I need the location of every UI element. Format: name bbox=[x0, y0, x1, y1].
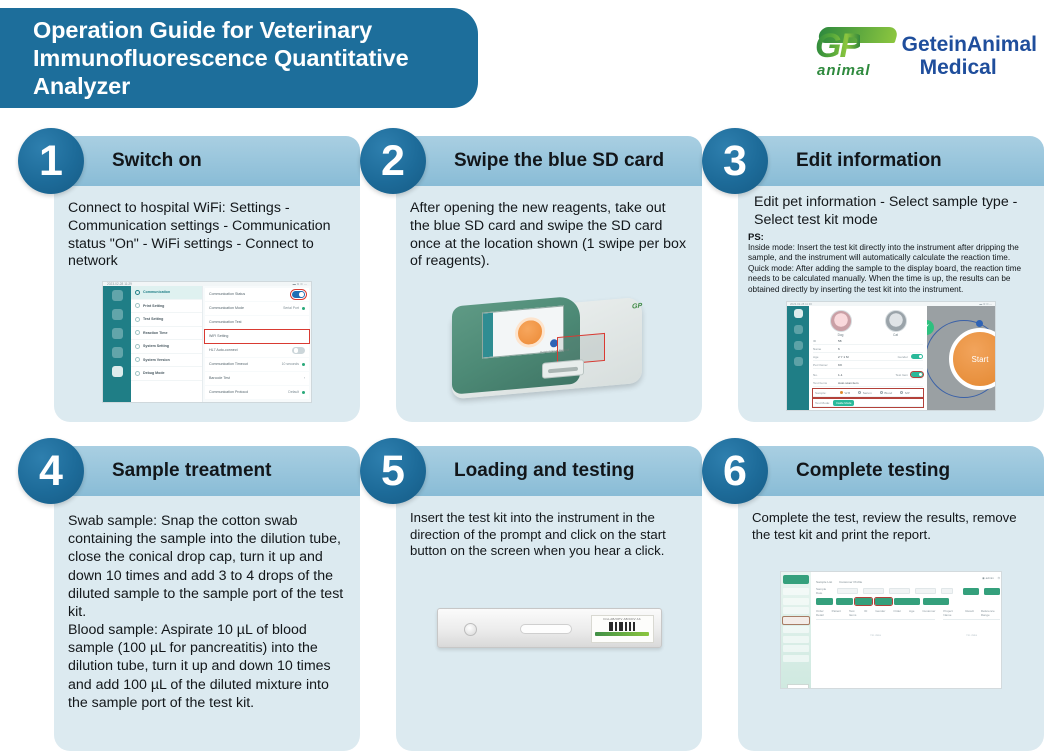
filter-customer[interactable] bbox=[915, 588, 936, 594]
field-label: Name bbox=[813, 347, 835, 351]
sample-type-row[interactable]: Sample: W.B Serum Blood S/P bbox=[813, 389, 923, 397]
sidebar-item-storage-center[interactable] bbox=[783, 655, 809, 662]
row-label: Communication Mode bbox=[209, 306, 244, 310]
status-dot-icon bbox=[302, 363, 305, 366]
col-project-name: Project Name bbox=[943, 609, 958, 617]
radio-icon bbox=[900, 391, 903, 394]
test-item-label: Test Item bbox=[895, 373, 908, 377]
rail-test-icon[interactable] bbox=[794, 309, 803, 318]
sidebar-item-customer[interactable] bbox=[783, 607, 809, 614]
settings-screen-body: Communication Print Setting Test Setting bbox=[103, 286, 311, 402]
pet-option-dog[interactable]: Dog bbox=[830, 310, 852, 337]
status-dot-icon bbox=[302, 391, 305, 394]
step-5-figure: ICH-AB/OPV AB/CDV Ab bbox=[410, 600, 688, 656]
sidebar-item-updated-jobs[interactable] bbox=[783, 645, 809, 652]
pet-info-screenshot: 2023-02-28 11:30 ▬ ≋ ⊙ ⋯ bbox=[786, 301, 996, 411]
step-2-number-badge: 2 bbox=[360, 128, 426, 194]
gp-logo-mark: GP animal bbox=[807, 29, 894, 85]
col-age: Age bbox=[909, 609, 914, 617]
test-item-toggle[interactable] bbox=[911, 372, 923, 378]
step-3-header: 3 Edit information bbox=[738, 136, 1044, 186]
col-gender: Gender bbox=[875, 609, 885, 617]
field-value[interactable]: 2 Y 1 M bbox=[838, 355, 895, 359]
brand-name-line2: Medical bbox=[902, 57, 1037, 80]
brand-name: GeteinAnimal Medical bbox=[902, 34, 1037, 79]
menu-bullet-icon bbox=[135, 290, 140, 295]
settings-left-rail[interactable] bbox=[103, 286, 131, 402]
step-5-text: Insert the test kit into the instrument … bbox=[410, 510, 688, 560]
table-header-row: Order Detail Patient Test Items ID Gende… bbox=[816, 609, 935, 620]
pet-option-label: Cat bbox=[893, 333, 898, 337]
step-card-4: 4 Sample treatment Swab sample: Snap the… bbox=[18, 446, 360, 751]
step-card-5: 5 Loading and testing Insert the test ki… bbox=[360, 446, 702, 751]
field-row-age-gender[interactable]: Age 2 Y 1 M Gender bbox=[813, 353, 923, 361]
step-5-title: Loading and testing bbox=[454, 460, 635, 482]
dashboard-main: ◉ admin ⏻ Sample List Customer Profile S… bbox=[811, 572, 1002, 688]
filter-date-to[interactable] bbox=[863, 588, 884, 594]
step-4-title: Sample treatment bbox=[112, 460, 271, 482]
dashboard-filter-bar[interactable]: Sample Date bbox=[816, 587, 1000, 595]
row-wifi-setting[interactable]: WiFi Setting bbox=[205, 330, 309, 343]
step-card-2: 2 Swipe the blue SD card After opening t… bbox=[360, 136, 702, 422]
gp-logo-letters: GP bbox=[815, 29, 860, 63]
sample-option-sp[interactable]: S/P bbox=[900, 391, 910, 395]
field-label: Pet Owner bbox=[813, 363, 835, 367]
step-5-header: 5 Loading and testing bbox=[396, 446, 702, 496]
pet-info-start-panel: ✓ Start bbox=[927, 306, 995, 410]
account-icon[interactable]: ◉ admin bbox=[982, 576, 994, 580]
action-print-button[interactable] bbox=[836, 598, 853, 605]
field-row-test-items[interactable]: Test Items Auto scan item bbox=[813, 379, 923, 387]
col-test-items: Test Items bbox=[849, 609, 856, 617]
step-4-text: Swab sample: Snap the cotton swab contai… bbox=[68, 512, 346, 712]
dashboard-reset-button[interactable] bbox=[984, 588, 1000, 595]
menu-bullet-icon bbox=[135, 317, 140, 322]
cat-avatar-icon bbox=[885, 310, 907, 332]
step-3-number-badge: 3 bbox=[702, 128, 768, 194]
test-mode-value[interactable]: Inside Mode bbox=[833, 400, 854, 406]
dashboard-brand-logo bbox=[783, 575, 809, 584]
settings-menu-item-print-setting[interactable]: Print Setting bbox=[131, 300, 202, 314]
communication-status-toggle[interactable] bbox=[292, 291, 305, 298]
col-id: ID bbox=[864, 609, 867, 617]
step-1-title: Switch on bbox=[112, 150, 202, 172]
row-communication-timeout[interactable]: Communication Timeout 10 seconds bbox=[205, 358, 309, 371]
steps-grid: 1 Switch on Connect to hospital WiFi: Se… bbox=[0, 128, 1059, 755]
test-mode-label: Test Mode: bbox=[815, 401, 830, 405]
settings-screenshot: 2023-02-28 11:29 ▬ ≋ ⊙ ⋯ bbox=[102, 281, 312, 403]
step-5-body: Insert the test kit into the instrument … bbox=[396, 496, 702, 751]
col-reference-range: Reference Range bbox=[981, 609, 1000, 617]
col-customer: Customer bbox=[922, 609, 935, 617]
dashboard-search-button[interactable] bbox=[963, 588, 979, 595]
step-4-number-badge: 4 bbox=[18, 438, 84, 504]
step-6-body: Complete the test, review the results, r… bbox=[738, 496, 1044, 751]
rail-settings-icon[interactable] bbox=[112, 366, 123, 377]
field-value[interactable]: 6 bbox=[838, 347, 923, 351]
step-4-body: Swab sample: Snap the cotton swab contai… bbox=[54, 496, 360, 751]
menu-bullet-icon bbox=[135, 371, 140, 376]
step-1-body: Connect to hospital WiFi: Settings - Com… bbox=[54, 186, 360, 422]
field-row-no-testitem[interactable]: No. 1-1 Test Item bbox=[813, 371, 923, 379]
radio-icon bbox=[858, 391, 861, 394]
step-4-header: 4 Sample treatment bbox=[54, 446, 360, 496]
settings-menu-item-reaction-time[interactable]: Reaction Time bbox=[131, 327, 202, 341]
rail-settings-icon[interactable] bbox=[794, 357, 803, 366]
chevron-right-icon: › bbox=[304, 376, 305, 380]
field-value[interactable]: KK bbox=[838, 363, 923, 367]
action-add-button[interactable] bbox=[816, 598, 833, 605]
field-value[interactable]: Auto scan item bbox=[838, 381, 923, 385]
menu-bullet-icon bbox=[135, 357, 140, 362]
sidebar-item-sample-mana[interactable] bbox=[783, 617, 809, 624]
settings-menu-item-communication[interactable]: Communication bbox=[131, 286, 202, 300]
result-empty-state: No data bbox=[943, 620, 1000, 650]
settings-menu-list[interactable]: Communication Print Setting Test Setting bbox=[131, 286, 203, 402]
filter-label-sample-date: Sample Date bbox=[816, 587, 832, 595]
settings-menu-item-system-setting[interactable]: System Setting bbox=[131, 340, 202, 354]
sidebar-item-management[interactable] bbox=[783, 636, 809, 643]
tab-sample-list[interactable]: Sample List bbox=[816, 580, 832, 584]
gender-toggle[interactable] bbox=[911, 354, 923, 360]
step-3-body: Edit pet information - Select sample typ… bbox=[738, 186, 1044, 422]
rail-data-icon[interactable] bbox=[112, 309, 123, 320]
action-delete-button[interactable] bbox=[875, 598, 892, 605]
gp-logo-subtext: animal bbox=[817, 62, 871, 79]
step-6-title: Complete testing bbox=[796, 460, 950, 482]
radio-icon bbox=[880, 391, 883, 394]
pet-info-left-rail[interactable] bbox=[787, 306, 809, 410]
row-communication-mode[interactable]: Communication Mode Serial Port bbox=[205, 302, 309, 315]
settings-menu-item-test-setting[interactable]: Test Setting bbox=[131, 313, 202, 327]
row-communication-test[interactable]: Communication Test bbox=[205, 316, 309, 329]
pet-info-body: Dog Cat ID 58 bbox=[787, 306, 995, 410]
menu-label: Debug Mode bbox=[143, 371, 165, 375]
row-label: HL7 Auto-connect bbox=[209, 348, 238, 352]
field-label: Test Items bbox=[813, 381, 835, 385]
cassette-body: ICH-AB/OPV AB/CDV Ab bbox=[437, 608, 662, 648]
menu-bullet-icon bbox=[135, 303, 140, 308]
cassette-result-window bbox=[520, 624, 572, 634]
filter-all[interactable] bbox=[941, 588, 953, 594]
field-label: Age bbox=[813, 355, 835, 359]
step-6-figure: ◉ admin ⏻ Sample List Customer Profile S… bbox=[752, 571, 1030, 689]
settings-menu-item-system-version[interactable]: System Version bbox=[131, 354, 202, 368]
menu-label: Test Setting bbox=[143, 317, 163, 321]
page-title: Operation Guide for Veterinary Immunoflu… bbox=[0, 16, 478, 101]
sample-option-wb[interactable]: W.B bbox=[840, 391, 850, 395]
barcode-icon bbox=[609, 622, 635, 631]
step-2-header: 2 Swipe the blue SD card bbox=[396, 136, 702, 186]
col-result: Result bbox=[965, 609, 974, 617]
field-value[interactable]: 1-1 bbox=[838, 373, 892, 377]
settings-menu-item-debug-mode[interactable]: Debug Mode bbox=[131, 367, 202, 381]
dog-avatar-icon bbox=[830, 310, 852, 332]
menu-bullet-icon bbox=[135, 344, 140, 349]
dashboard-sidebar[interactable] bbox=[781, 572, 811, 688]
rail-qc-icon[interactable] bbox=[794, 341, 803, 350]
field-row-id[interactable]: ID 58 bbox=[813, 337, 923, 345]
action-export-button[interactable] bbox=[894, 598, 920, 605]
menu-label: Communication bbox=[143, 290, 170, 294]
device-brand-logo: GP bbox=[632, 303, 642, 311]
dashboard-screenshot: ◉ admin ⏻ Sample List Customer Profile S… bbox=[780, 571, 1002, 689]
step-6-text: Complete the test, review the results, r… bbox=[752, 510, 1030, 543]
brand-logo: GP animal GeteinAnimal Medical bbox=[807, 26, 1037, 88]
step-card-3: 3 Edit information Edit pet information … bbox=[702, 136, 1044, 422]
analyzer-device-photo: GP GeteinAnimal Medical bbox=[444, 287, 654, 409]
field-row-name[interactable]: Name 6 bbox=[813, 345, 923, 353]
field-label: No. bbox=[813, 373, 835, 377]
sample-option-serum[interactable]: Serum bbox=[858, 391, 872, 395]
action-batch-print-button[interactable] bbox=[923, 598, 949, 605]
dashboard-tabs[interactable]: Sample List Customer Profile bbox=[816, 580, 1000, 584]
sidebar-item-test-records[interactable] bbox=[783, 626, 809, 633]
pet-info-form: Dog Cat ID 58 bbox=[809, 306, 927, 410]
sidebar-item-customer-mana[interactable] bbox=[783, 598, 809, 605]
col-patient: Patient bbox=[832, 609, 841, 617]
radio-icon bbox=[840, 391, 843, 394]
step-1-text: Connect to hospital WiFi: Settings - Com… bbox=[68, 200, 346, 271]
table-empty-state: No data bbox=[816, 620, 935, 650]
status-dot-icon bbox=[302, 307, 305, 310]
field-label: ID bbox=[813, 339, 835, 343]
device-screen-sidebar bbox=[483, 313, 493, 358]
filter-date-from[interactable] bbox=[837, 588, 858, 594]
step-2-body: After opening the new reagents, take out… bbox=[396, 186, 702, 422]
row-communication-status[interactable]: Communication Status bbox=[205, 288, 309, 301]
sidebar-item-home[interactable] bbox=[783, 588, 809, 595]
rail-test-icon[interactable] bbox=[112, 290, 123, 301]
step-5-number-badge: 5 bbox=[360, 438, 426, 504]
cassette-label-green-band bbox=[595, 632, 649, 636]
step-3-title: Edit information bbox=[796, 150, 942, 172]
step-card-1: 1 Switch on Connect to hospital WiFi: Se… bbox=[18, 136, 360, 422]
cassette-sample-port bbox=[464, 623, 477, 636]
logout-icon[interactable]: ⏻ bbox=[998, 576, 1000, 580]
result-header-row: Project Name Result Reference Range bbox=[943, 609, 1000, 620]
dashboard-action-buttons[interactable] bbox=[816, 598, 1000, 605]
row-label: Barcode Test bbox=[209, 376, 230, 380]
row-barcode-test[interactable]: Barcode Test › bbox=[205, 372, 309, 385]
step-2-text: After opening the new reagents, take out… bbox=[410, 200, 688, 271]
row-value: Default bbox=[288, 390, 299, 394]
row-value: 10 seconds bbox=[282, 362, 299, 366]
dashboard-result-panel: Project Name Result Reference Range No d… bbox=[943, 609, 1000, 650]
dashboard-sample-table: Order Detail Patient Test Items ID Gende… bbox=[816, 609, 935, 650]
row-label: Communication Timeout bbox=[209, 362, 248, 366]
step-3-figure: 2023-02-28 11:30 ▬ ≋ ⊙ ⋯ bbox=[748, 301, 1034, 411]
step-1-figure: 2023-02-28 11:29 ▬ ≋ ⊙ ⋯ bbox=[68, 281, 346, 403]
step-2-title: Swipe the blue SD card bbox=[454, 150, 664, 172]
test-mode-row[interactable]: Test Mode: Inside Mode bbox=[813, 399, 923, 407]
row-label: Communication Status bbox=[209, 292, 245, 296]
check-circle-icon: ✓ bbox=[927, 320, 934, 335]
menu-label: System Version bbox=[143, 358, 170, 362]
field-row-pet-owner[interactable]: Pet Owner KK bbox=[813, 361, 923, 369]
brand-name-line1: GeteinAnimal bbox=[902, 33, 1037, 56]
rail-query-icon[interactable] bbox=[112, 328, 123, 339]
filter-medicine[interactable] bbox=[889, 588, 910, 594]
hl7-auto-connect-toggle[interactable] bbox=[292, 347, 305, 354]
settings-detail-list: Communication Status Communication Mode … bbox=[203, 286, 311, 402]
sample-label: Sample: bbox=[815, 391, 837, 395]
row-value: Serial Port bbox=[283, 306, 299, 310]
row-label: Communication Protocol bbox=[209, 390, 248, 394]
step-6-number-badge: 6 bbox=[702, 438, 768, 504]
step-3-text: Edit pet information - Select sample typ… bbox=[748, 194, 1034, 230]
start-ring-handle-icon bbox=[976, 320, 983, 327]
page-header-banner: Operation Guide for Veterinary Immunoflu… bbox=[0, 8, 478, 108]
row-label: WiFi Setting bbox=[209, 334, 228, 338]
test-cassette-photo: ICH-AB/OPV AB/CDV Ab bbox=[437, 600, 662, 656]
step-3-ps-label: PS: bbox=[748, 232, 1034, 243]
step-3-ps-text: Inside mode: Insert the test kit directl… bbox=[748, 243, 1034, 296]
row-communication-protocol[interactable]: Communication Protocol Default bbox=[205, 386, 309, 399]
step-1-header: 1 Switch on bbox=[54, 136, 360, 186]
sample-option-blood[interactable]: Blood bbox=[880, 391, 892, 395]
step-2-figure: GP GeteinAnimal Medical bbox=[410, 287, 688, 409]
step-6-header: 6 Complete testing bbox=[738, 446, 1044, 496]
sidebar-user-photo bbox=[787, 684, 809, 690]
col-order-detail: Order Detail bbox=[816, 609, 824, 617]
pet-option-cat[interactable]: Cat bbox=[885, 310, 907, 337]
field-value[interactable]: 58 bbox=[838, 339, 923, 343]
menu-label: Reaction Time bbox=[143, 331, 168, 335]
cassette-barcode-label: ICH-AB/OPV AB/CDV Ab bbox=[591, 615, 654, 643]
device-start-button bbox=[515, 316, 545, 349]
step-card-6: 6 Complete testing Complete the test, re… bbox=[702, 446, 1044, 751]
row-hl7-auto-connect[interactable]: HL7 Auto-connect bbox=[205, 344, 309, 357]
menu-label: System Setting bbox=[143, 344, 169, 348]
menu-bullet-icon bbox=[135, 330, 140, 335]
pet-type-selector[interactable]: Dog Cat bbox=[813, 309, 923, 337]
cassette-label-text: ICH-AB/OPV AB/CDV Ab bbox=[603, 617, 641, 621]
rail-qc-icon[interactable] bbox=[112, 347, 123, 358]
gender-label: Gender bbox=[898, 355, 908, 359]
rail-data-icon[interactable] bbox=[794, 325, 803, 334]
menu-label: Print Setting bbox=[143, 304, 164, 308]
dashboard-content-split: Order Detail Patient Test Items ID Gende… bbox=[816, 609, 1000, 650]
col-order: Order bbox=[893, 609, 901, 617]
step-1-number-badge: 1 bbox=[18, 128, 84, 194]
row-label: Communication Test bbox=[209, 320, 242, 324]
tab-customer-profile[interactable]: Customer Profile bbox=[839, 580, 862, 584]
pet-option-label: Dog bbox=[838, 333, 844, 337]
action-edit-button[interactable] bbox=[855, 598, 872, 605]
